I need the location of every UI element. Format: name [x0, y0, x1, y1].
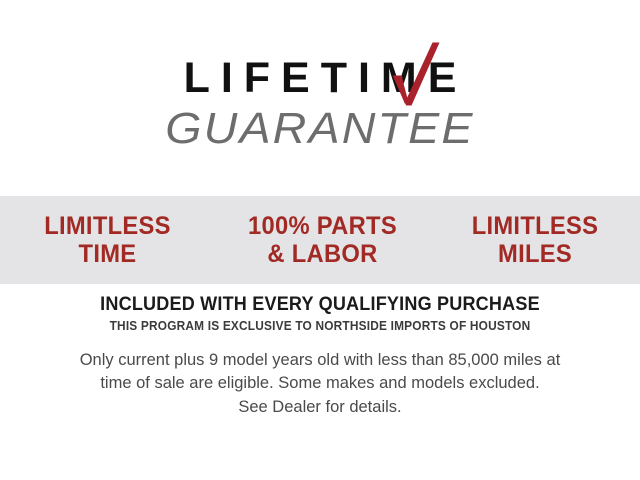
benefit-line-2: & LABOR [220, 240, 424, 269]
benefits-band: LIMITLESS TIME 100% PARTS & LABOR LIMITL… [0, 196, 640, 284]
logo-lifetime-text: LIFETIME [173, 52, 468, 104]
benefit-line-2: TIME [5, 240, 209, 269]
logo-secondary-row: GUARANTEE [0, 105, 640, 153]
benefit-line-2: MILES [435, 240, 635, 269]
benefit-column-parts-and-labor: 100% PARTS & LABOR [220, 212, 424, 269]
fineprint-line-3: See Dealer for details. [40, 396, 600, 419]
benefit-line-1: LIMITLESS [435, 212, 635, 241]
fineprint-line-1: Only current plus 9 model years old with… [40, 349, 600, 372]
fineprint-line-2: time of sale are eligible. Some makes an… [40, 372, 600, 395]
benefit-column-limitless-miles: LIMITLESS MILES [435, 212, 635, 269]
lifetime-guarantee-ad: LIFETIME GUARANTEE LIMITLESS TIME 100% P… [0, 0, 640, 480]
benefit-line-1: LIMITLESS [5, 212, 209, 241]
benefit-column-limitless-time: LIMITLESS TIME [5, 212, 209, 269]
benefit-line-1: 100% PARTS [220, 212, 424, 241]
footer-subheadline: THIS PROGRAM IS EXCLUSIVE TO NORTHSIDE I… [16, 319, 624, 333]
footer-fineprint: Only current plus 9 model years old with… [40, 349, 600, 419]
brand-logo: LIFETIME GUARANTEE [0, 52, 640, 162]
logo-primary-row: LIFETIME [0, 52, 640, 104]
footer-headline: INCLUDED WITH EVERY QUALIFYING PURCHASE [16, 294, 624, 316]
footer-text-block: INCLUDED WITH EVERY QUALIFYING PURCHASE … [0, 294, 640, 419]
logo-guarantee-text: GUARANTEE [165, 105, 474, 153]
